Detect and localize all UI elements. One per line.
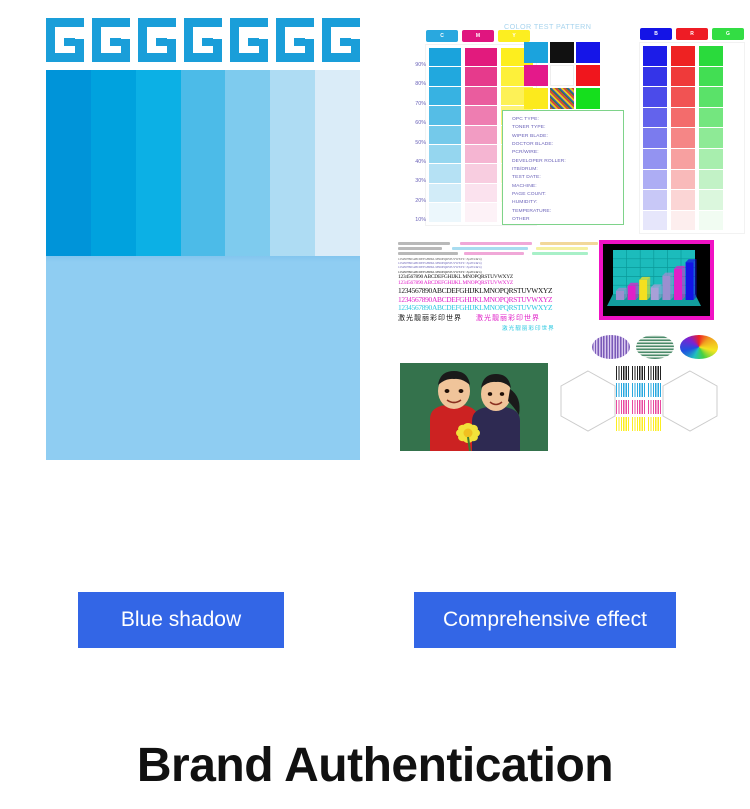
mini-gradient-swatch-c — [648, 383, 661, 397]
page-title: Brand Authentication — [0, 738, 750, 793]
children-photo-illustration — [400, 363, 548, 451]
ramp-patch — [671, 170, 695, 190]
bar-chart-target — [599, 240, 714, 320]
primary-swatch-grid — [524, 42, 600, 109]
primary-swatch — [550, 65, 574, 86]
primary-swatch — [524, 65, 548, 86]
info-field-label: PCR/WIRE: — [512, 149, 623, 157]
mini-gradient-swatch-k — [648, 366, 661, 380]
bar — [628, 286, 636, 300]
gradient-step — [46, 70, 91, 256]
micro-rule-row — [398, 252, 586, 257]
info-field-label: MACHINE: — [512, 183, 623, 191]
ramp-patch — [643, 211, 667, 231]
micro-rule — [398, 242, 450, 245]
info-field-label: ITB/DRUM: — [512, 166, 623, 174]
bar — [651, 287, 659, 300]
ramp-patch — [699, 190, 723, 210]
ramp-patch — [643, 128, 667, 148]
ramp-patch — [643, 149, 667, 169]
micro-rule — [398, 252, 458, 255]
hexagon-outline-left — [560, 370, 616, 432]
brand-authentication-comparison-page: COLOR TEST PATTERN 90%80%70%60%50%40%30%… — [0, 0, 750, 809]
cmy-header-row: CMY — [426, 30, 536, 42]
percent-label: 20% — [400, 192, 426, 211]
percent-label: 90% — [400, 56, 426, 75]
ramp-patch — [699, 128, 723, 148]
percent-label: 70% — [400, 95, 426, 114]
ramp-patch — [699, 87, 723, 107]
color-wheel-ellipse — [680, 335, 718, 359]
ramp-column — [643, 46, 667, 230]
micro-rule — [452, 247, 528, 250]
info-field-label: DEVELOPER ROLLER: — [512, 158, 623, 166]
ramp-patch — [429, 87, 461, 105]
percent-label-column: 90%80%70%60%50%40%30%20%10% — [400, 56, 426, 231]
logo-mark-g-icon — [322, 18, 360, 62]
mini-gradient-swatch-c — [632, 383, 645, 397]
ramp-patch — [465, 126, 497, 144]
ramp-patch — [429, 48, 461, 66]
bar-chart-canvas — [603, 244, 710, 316]
bar-chart-svg — [603, 244, 710, 316]
logo-mark-g-icon — [46, 18, 84, 62]
ramp-patch — [699, 149, 723, 169]
ramp-patch — [671, 149, 695, 169]
ramp-patch — [643, 108, 667, 128]
logo-mark-g-icon — [92, 18, 130, 62]
horizontal-stripe-ellipse — [636, 335, 674, 359]
gradient-step — [315, 70, 360, 256]
mini-gradient-swatch-k — [632, 366, 645, 380]
info-field-label: OPC TYPE: — [512, 116, 623, 124]
ramp-column — [671, 46, 695, 230]
photo-test-target — [400, 363, 548, 451]
noise-swatch — [550, 88, 574, 109]
logo-mark-g-icon — [230, 18, 268, 62]
info-field-label: HUMIDITY: — [512, 199, 623, 207]
brg-ramp-group: BRG — [640, 28, 744, 233]
info-field-label: DOCTOR BLADE: — [512, 141, 623, 149]
ramp-patch — [465, 48, 497, 66]
label-comprehensive-effect[interactable]: Comprehensive effect — [414, 592, 676, 648]
gradient-step — [270, 70, 315, 256]
mini-gradient-swatch-m — [648, 400, 661, 414]
mini-gradient-swatch-y — [648, 417, 661, 431]
label-blue-shadow[interactable]: Blue shadow — [78, 592, 284, 648]
info-field-label: TONER TYPE: — [512, 124, 623, 132]
mini-gradient-swatch-y — [632, 417, 645, 431]
brg-ramp-table — [640, 43, 744, 233]
ramp-patch — [699, 67, 723, 87]
gradient-step — [136, 70, 181, 256]
ramp-patch — [671, 87, 695, 107]
ramp-patch — [699, 46, 723, 66]
percent-label: 10% — [400, 211, 426, 230]
blue-gradient-strip — [46, 70, 360, 256]
color-test-pattern-sheet: COLOR TEST PATTERN 90%80%70%60%50%40%30%… — [392, 18, 722, 470]
ramp-patch — [465, 87, 497, 105]
ramp-patch — [671, 67, 695, 87]
micro-rule — [532, 252, 588, 255]
ramp-patch — [643, 190, 667, 210]
mini-gradient-swatch-m — [632, 400, 645, 414]
mini-gradient-swatch-m — [616, 400, 629, 414]
blue-flat-block — [46, 256, 360, 460]
cjk-text-row: 激光靓丽彩印世界激光靓丽彩印世界 — [398, 314, 586, 324]
primary-swatch — [524, 42, 548, 63]
bar — [686, 262, 694, 300]
ramp-patch — [699, 170, 723, 190]
mini-gradient-swatch-k — [616, 366, 629, 380]
ramp-header-b: B — [640, 28, 672, 40]
ramp-patch — [643, 67, 667, 87]
info-field-label: OTHER — [512, 216, 623, 224]
percent-label: 30% — [400, 172, 426, 191]
ramp-header-g: G — [712, 28, 744, 40]
primary-swatch — [576, 65, 600, 86]
micro-rule — [398, 247, 442, 250]
micro-rule — [464, 252, 524, 255]
logo-mark-g-icon — [184, 18, 222, 62]
ramp-patch — [671, 211, 695, 231]
micro-rule — [536, 247, 588, 250]
ramp-patch — [643, 87, 667, 107]
ramp-patch — [671, 46, 695, 66]
ellipse-test-row — [592, 330, 718, 364]
cjk-text: 激光靓丽彩印世界 — [502, 324, 586, 334]
blue-shadow-print-sample — [46, 18, 360, 460]
ramp-patch — [671, 108, 695, 128]
ramp-patch — [429, 67, 461, 85]
primary-swatch — [524, 88, 548, 109]
resolution-text-line: 1234567890ABCDEFGHIJKLMNOPQRSTUVWXYZ — [398, 304, 586, 313]
bar — [662, 276, 670, 300]
cjk-text: 激光靓丽彩印世界 — [398, 314, 462, 324]
ramp-patch — [699, 211, 723, 231]
percent-label: 80% — [400, 75, 426, 94]
service-info-box: OPC TYPE:TONER TYPE:WIPER BLADE:DOCTOR B… — [502, 110, 624, 225]
ramp-patch — [429, 145, 461, 163]
ramp-patch — [465, 106, 497, 124]
ramp-patch — [465, 184, 497, 202]
logo-mark-g-icon — [138, 18, 176, 62]
bar — [639, 280, 647, 300]
ramp-column — [429, 48, 461, 222]
ramp-patch — [465, 67, 497, 85]
ramp-patch — [429, 126, 461, 144]
info-field-label: WIPER BLADE: — [512, 133, 623, 141]
ramp-column — [465, 48, 497, 222]
logo-mark-row — [46, 18, 360, 64]
mini-gradient-swatch-y — [616, 417, 629, 431]
hexagon-outline-right — [662, 370, 718, 432]
info-field-label: TEMPERATURE: — [512, 208, 623, 216]
cjk-text: 激光靓丽彩印世界 — [476, 314, 540, 324]
brg-header-row: BRG — [640, 28, 744, 40]
resolution-text-line: 1234567890 ABCDEFGHIJKL MNOPQRSTUVWXYZ — [398, 274, 586, 281]
ramp-header-r: R — [676, 28, 708, 40]
gradient-step — [225, 70, 270, 256]
ramp-patch — [465, 203, 497, 221]
vertical-stripe-ellipse — [592, 335, 630, 359]
ramp-patch — [643, 170, 667, 190]
percent-label: 40% — [400, 153, 426, 172]
ramp-header-m: M — [462, 30, 494, 42]
logo-mark-g-icon — [276, 18, 314, 62]
ramp-patch — [643, 46, 667, 66]
mini-gradient-swatch-c — [616, 383, 629, 397]
bar — [674, 269, 682, 300]
gradient-step — [91, 70, 136, 256]
ramp-patch — [429, 203, 461, 221]
ramp-patch — [465, 164, 497, 182]
ramp-patch — [429, 106, 461, 124]
ramp-header-y: Y — [498, 30, 530, 42]
info-field-label: TEST DATE: — [512, 174, 623, 182]
text-resolution-block: 1234567890 ABCDEFGHIJKL MNOPQRSTUVWXYZ ~… — [398, 242, 586, 350]
micro-rule — [540, 242, 598, 245]
percent-label: 50% — [400, 134, 426, 153]
ramp-patch — [465, 145, 497, 163]
primary-swatch — [576, 42, 600, 63]
ramp-patch — [671, 128, 695, 148]
info-field-label: PAGE COUNT: — [512, 191, 623, 199]
ramp-column — [699, 46, 723, 230]
bar — [616, 291, 624, 300]
micro-rule — [460, 242, 532, 245]
primary-swatch — [576, 88, 600, 109]
ramp-patch — [429, 164, 461, 182]
gradient-step — [181, 70, 226, 256]
percent-label: 60% — [400, 114, 426, 133]
ramp-header-c: C — [426, 30, 458, 42]
ramp-patch — [671, 190, 695, 210]
mini-gradient-swatch-grid — [616, 366, 661, 431]
primary-swatch — [550, 42, 574, 63]
ramp-patch — [699, 108, 723, 128]
ramp-patch — [429, 184, 461, 202]
